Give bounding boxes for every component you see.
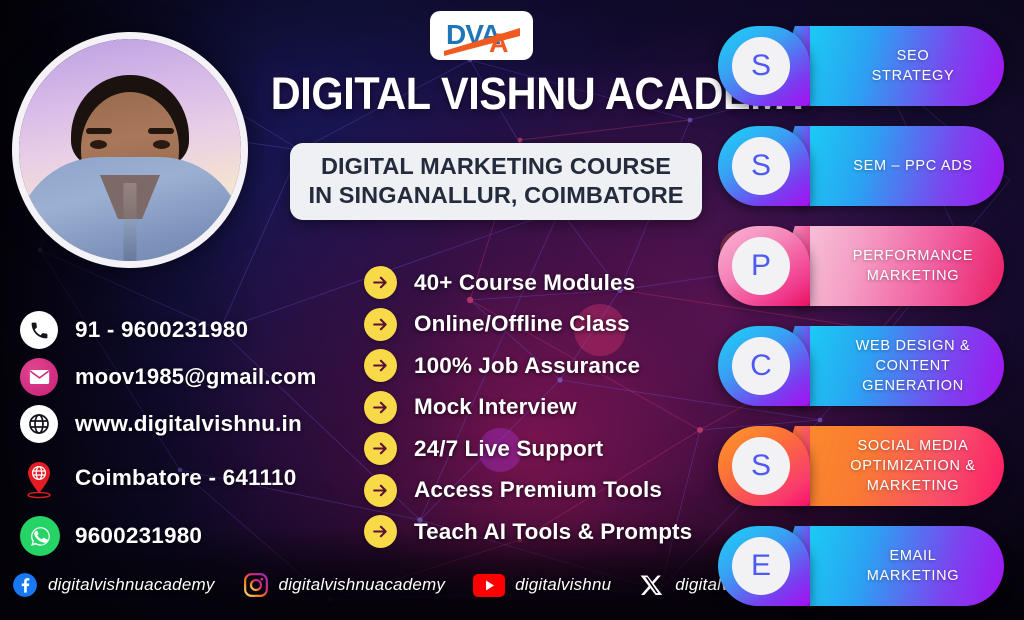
service-badge-pill: SOCIAL MEDIA OPTIMIZATION & MARKETING — [796, 426, 1004, 506]
service-badge-teardrop: S — [718, 426, 810, 506]
social-link-instagram[interactable]: digitalvishnuacademy — [243, 572, 446, 598]
social-links: digitalvishnuacademy — [12, 572, 809, 598]
service-badge-pill: WEB DESIGN & CONTENT GENERATION — [796, 326, 1004, 406]
service-badge-teardrop: P — [718, 226, 810, 306]
contact-whatsapp-value: 9600231980 — [75, 523, 202, 549]
contact-phone[interactable]: 91 - 9600231980 — [20, 307, 350, 353]
contact-list: 91 - 9600231980 moov1985@gmail.com — [20, 307, 350, 560]
location-icon — [20, 459, 58, 497]
instagram-icon — [243, 572, 269, 598]
youtube-icon — [473, 572, 505, 598]
marketing-banner: DVA A DIGITAL VISHNU ACADEMY DIGITAL MAR… — [0, 0, 1024, 620]
instructor-portrait — [12, 32, 248, 268]
service-badge-teardrop: C — [718, 326, 810, 406]
whatsapp-icon — [20, 516, 60, 556]
service-badge-social-media-optimization[interactable]: SOCIAL MEDIA OPTIMIZATION & MARKETING S — [718, 426, 1014, 506]
service-badge-teardrop: S — [718, 126, 810, 206]
feature-item: Access Premium Tools — [364, 470, 692, 512]
feature-item: 100% Job Assurance — [364, 345, 692, 387]
service-badge-letter: S — [732, 37, 790, 95]
service-badge-sem-ppc-ads[interactable]: SEM – PPC ADS S — [718, 126, 1014, 206]
feature-label: 100% Job Assurance — [414, 353, 640, 379]
feature-item: Teach AI Tools & Prompts — [364, 511, 692, 553]
contact-location[interactable]: Coimbatore - 641110 — [20, 455, 350, 501]
service-badge-pill: SEO STRATEGY — [796, 26, 1004, 106]
service-badge-pill: PERFORMANCE MARKETING — [796, 226, 1004, 306]
arrow-right-icon — [364, 474, 397, 507]
service-badge-label: SOCIAL MEDIA OPTIMIZATION & MARKETING — [850, 436, 976, 496]
service-badge-label: WEB DESIGN & CONTENT GENERATION — [856, 336, 971, 396]
arrow-right-icon — [364, 432, 397, 465]
arrow-right-icon — [364, 308, 397, 341]
phone-icon — [20, 311, 58, 349]
service-badge-letter: S — [732, 137, 790, 195]
service-badge-letter: E — [732, 537, 790, 595]
facebook-icon — [12, 572, 38, 598]
feature-item: Online/Offline Class — [364, 304, 692, 346]
contact-website-value: www.digitalvishnu.in — [75, 411, 302, 437]
service-badge-seo-strategy[interactable]: SEO STRATEGY S — [718, 26, 1014, 106]
subtitle-line-1: DIGITAL MARKETING COURSE — [304, 152, 688, 181]
social-link-facebook[interactable]: digitalvishnuacademy — [12, 572, 215, 598]
service-badge-label: PERFORMANCE MARKETING — [853, 246, 974, 286]
service-badge-letter: C — [732, 337, 790, 395]
page-title: DIGITAL VISHNU ACADEMY — [271, 70, 702, 118]
service-badge-pill: SEM – PPC ADS — [796, 126, 1004, 206]
feature-label: Access Premium Tools — [414, 477, 662, 503]
service-badge-teardrop: E — [718, 526, 810, 606]
feature-label: Teach AI Tools & Prompts — [414, 519, 692, 545]
contact-email[interactable]: moov1985@gmail.com — [20, 354, 350, 400]
subtitle-line-2: IN SINGANALLUR, COIMBATORE — [304, 181, 688, 210]
service-badge-teardrop: S — [718, 26, 810, 106]
email-icon — [20, 358, 58, 396]
service-badge-label: EMAIL MARKETING — [867, 546, 960, 586]
arrow-right-icon — [364, 391, 397, 424]
arrow-right-icon — [364, 349, 397, 382]
social-handle: digitalvishnuacademy — [48, 575, 215, 595]
subtitle-box: DIGITAL MARKETING COURSE IN SINGANALLUR,… — [290, 143, 702, 220]
social-handle: digitalvishnuacademy — [279, 575, 446, 595]
service-badge-email-marketing[interactable]: EMAIL MARKETING E — [718, 526, 1014, 606]
contact-whatsapp[interactable]: 9600231980 — [20, 513, 350, 559]
arrow-right-icon — [364, 266, 397, 299]
service-badge-web-design-content[interactable]: WEB DESIGN & CONTENT GENERATION C — [718, 326, 1014, 406]
feature-label: Mock Interview — [414, 394, 577, 420]
feature-item: 24/7 Live Support — [364, 428, 692, 470]
service-badge-letter: P — [732, 237, 790, 295]
globe-icon — [20, 405, 58, 443]
service-badge-letter: S — [732, 437, 790, 495]
service-badge-label: SEM – PPC ADS — [853, 156, 973, 176]
feature-item: 40+ Course Modules — [364, 262, 692, 304]
service-badge-list: SEO STRATEGY S SEM – PPC ADS S PERFORMAN — [718, 26, 1014, 620]
service-badge-pill: EMAIL MARKETING — [796, 526, 1004, 606]
feature-item: Mock Interview — [364, 387, 692, 429]
contact-website[interactable]: www.digitalvishnu.in — [20, 401, 350, 447]
x-twitter-icon — [639, 572, 665, 598]
feature-label: 40+ Course Modules — [414, 270, 635, 296]
service-badge-label: SEO STRATEGY — [872, 46, 955, 86]
contact-location-value: Coimbatore - 641110 — [75, 465, 296, 491]
feature-label: Online/Offline Class — [414, 311, 630, 337]
feature-list: 40+ Course Modules Online/Offline Class … — [364, 262, 692, 553]
contact-email-value: moov1985@gmail.com — [75, 364, 316, 390]
social-handle: digitalvishnu — [515, 575, 611, 595]
feature-label: 24/7 Live Support — [414, 436, 603, 462]
arrow-right-icon — [364, 515, 397, 548]
contact-phone-value: 91 - 9600231980 — [75, 317, 248, 343]
social-link-youtube[interactable]: digitalvishnu — [473, 572, 611, 598]
service-badge-performance-marketing[interactable]: PERFORMANCE MARKETING P — [718, 226, 1014, 306]
dva-logo: DVA A — [430, 11, 533, 60]
